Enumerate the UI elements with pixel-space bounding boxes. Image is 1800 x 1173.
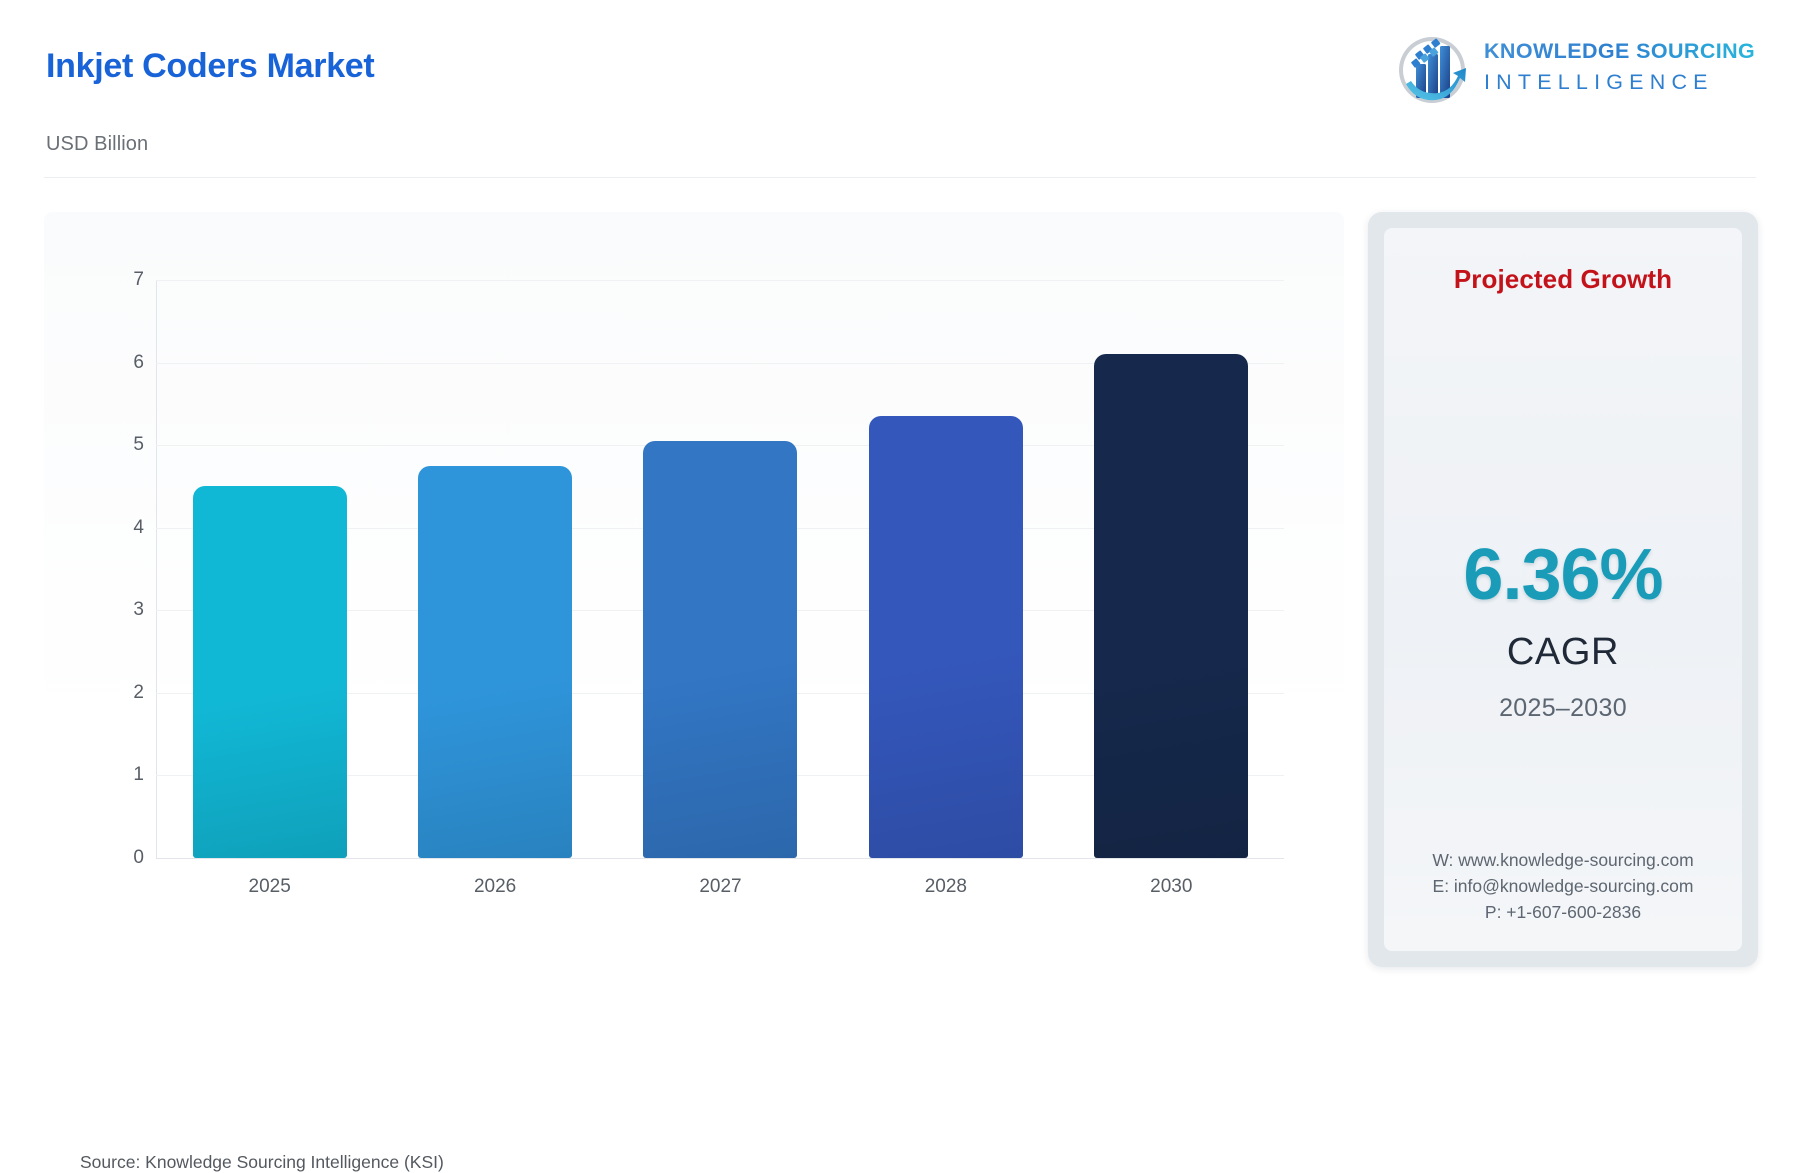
contact-email: E: info@knowledge-sourcing.com xyxy=(1384,873,1742,899)
x-tick-label-2030: 2030 xyxy=(1059,876,1284,898)
company-logo: KNOWLEDGE SOURCING INTELLIGENCE xyxy=(1388,22,1760,114)
bar-2027[interactable] xyxy=(643,441,797,858)
x-tick-label-2028: 2028 xyxy=(833,876,1058,898)
contact-block: W: www.knowledge-sourcing.com E: info@kn… xyxy=(1384,847,1742,925)
bar-slot xyxy=(157,280,382,858)
chart-page: Inkjet Coders Market USD Billion xyxy=(0,0,1800,1012)
bar-2025[interactable] xyxy=(193,486,347,858)
cagr-value: 6.36% xyxy=(1384,534,1742,616)
projected-growth-inner: Projected Growth 6.36% CAGR 2025–2030 W:… xyxy=(1384,228,1742,951)
page-title: Inkjet Coders Market xyxy=(46,47,374,86)
x-tick-label-2025: 2025 xyxy=(157,876,382,898)
bar-slot xyxy=(608,280,833,858)
y-tick-label: 5 xyxy=(108,434,144,456)
knowledge-sourcing-globe-bars-arrow-icon xyxy=(1388,24,1476,112)
projected-growth-card: Projected Growth 6.36% CAGR 2025–2030 W:… xyxy=(1368,212,1758,967)
projected-growth-heading: Projected Growth xyxy=(1384,264,1742,295)
bar-chart-plot: 01234567 20252026202720282030 xyxy=(108,280,1284,858)
cagr-period: 2025–2030 xyxy=(1384,694,1742,723)
bar-series xyxy=(157,280,1284,858)
bar-slot xyxy=(382,280,607,858)
logo-wordmark: KNOWLEDGE SOURCING INTELLIGENCE xyxy=(1484,39,1764,95)
y-tick-label: 0 xyxy=(108,847,144,869)
y-tick-label: 3 xyxy=(108,599,144,621)
contact-website: W: www.knowledge-sourcing.com xyxy=(1384,847,1742,873)
y-tick-label: 1 xyxy=(108,764,144,786)
logo-line-2: INTELLIGENCE xyxy=(1484,70,1764,95)
x-tick-label-2027: 2027 xyxy=(608,876,833,898)
contact-phone: P: +1-607-600-2836 xyxy=(1384,899,1742,925)
y-tick-label: 7 xyxy=(108,269,144,291)
y-tick-label: 6 xyxy=(108,352,144,374)
bar-2028[interactable] xyxy=(869,416,1023,858)
bar-2026[interactable] xyxy=(418,466,572,858)
page-header: Inkjet Coders Market USD Billion xyxy=(0,0,1800,178)
source-note: Source: Knowledge Sourcing Intelligence … xyxy=(80,1152,444,1173)
x-axis-line xyxy=(156,858,1284,859)
logo-line-1: KNOWLEDGE SOURCING xyxy=(1484,39,1764,64)
chart-card: 01234567 20252026202720282030 Source: Kn… xyxy=(44,212,1344,912)
cagr-label: CAGR xyxy=(1384,631,1742,674)
y-tick-label: 2 xyxy=(108,682,144,704)
bar-slot xyxy=(1059,280,1284,858)
bar-slot xyxy=(833,280,1058,858)
x-tick-label-2026: 2026 xyxy=(382,876,607,898)
page-subtitle: USD Billion xyxy=(46,133,148,156)
header-divider xyxy=(44,177,1756,178)
bar-2030[interactable] xyxy=(1094,354,1248,858)
y-tick-label: 4 xyxy=(108,517,144,539)
